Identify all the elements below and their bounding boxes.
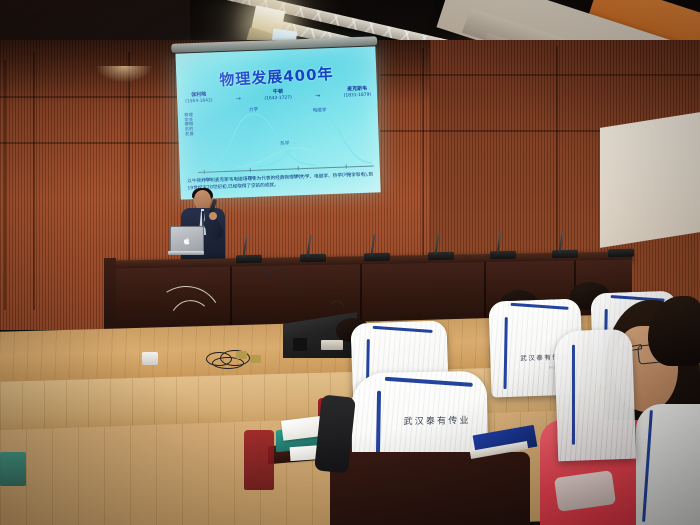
macbook-laptop[interactable] bbox=[168, 226, 204, 256]
wall-panel-seam bbox=[0, 96, 180, 98]
wall-panel-seam bbox=[0, 142, 180, 144]
chart-x-tick bbox=[250, 168, 251, 172]
table-seam bbox=[360, 264, 362, 326]
seat-teal bbox=[0, 452, 26, 486]
cable-plug bbox=[236, 351, 247, 359]
curve-label-thermodynamics: 热学 bbox=[280, 141, 289, 147]
scientist-entry: 牛顿 (1642-1727) bbox=[264, 89, 292, 101]
scientist-dates: (1831-1879) bbox=[344, 92, 372, 98]
laptop-lid bbox=[170, 226, 204, 253]
chair-cover-piping bbox=[504, 317, 508, 389]
seat-red bbox=[244, 430, 274, 490]
chart-x-tick bbox=[346, 165, 347, 169]
chart-y-axis-label: 物理学关键概念的发展 bbox=[184, 113, 195, 137]
power-adapter bbox=[142, 352, 158, 365]
desk-microphone[interactable] bbox=[428, 252, 454, 260]
arrow-icon: → bbox=[315, 88, 320, 99]
scientist-dates: (1564-1642) bbox=[185, 98, 213, 104]
apple-logo bbox=[184, 237, 191, 245]
scientist-dates: (1642-1727) bbox=[264, 95, 292, 101]
cable-plug bbox=[250, 355, 261, 363]
chart-curves bbox=[196, 105, 374, 173]
presenter-hand bbox=[209, 212, 217, 220]
wall-panel-seam bbox=[33, 52, 35, 310]
chair-cover-piping bbox=[385, 377, 473, 387]
wall-light-glow bbox=[96, 66, 152, 82]
chair-cover-text: 武汉泰有传业 bbox=[403, 413, 470, 427]
slide-chart: 物理学关键概念的发展 力学 电磁学 热学 1600 1700 1800 1900 bbox=[196, 105, 374, 173]
cable-pile bbox=[206, 350, 268, 368]
chair-cover-piping bbox=[572, 345, 575, 445]
curve-label-mechanics: 力学 bbox=[249, 107, 258, 113]
desk-microphone[interactable] bbox=[552, 250, 578, 258]
desk-microphone[interactable] bbox=[490, 251, 516, 259]
arrow-icon: → bbox=[236, 91, 241, 102]
desk-microphone[interactable] bbox=[236, 255, 262, 263]
wall-panel-seam bbox=[380, 74, 700, 76]
chair-cover-piping bbox=[373, 326, 433, 333]
table-seam bbox=[484, 262, 486, 324]
projected-slide: 物理发展400年 伽利略 (1564-1642) → 牛顿 (1642-1727… bbox=[175, 46, 380, 199]
laptop-base bbox=[168, 251, 204, 255]
projection-screen: 物理发展400年 伽利略 (1564-1642) → 牛顿 (1642-1727… bbox=[175, 41, 380, 200]
right-wall-light-panel bbox=[600, 112, 700, 248]
desk-microphone[interactable] bbox=[300, 254, 326, 262]
desk-microphone[interactable] bbox=[364, 253, 390, 261]
curve-label-electromagnetism: 电磁学 bbox=[313, 107, 327, 114]
presenter-head bbox=[194, 190, 211, 210]
scientist-entry: 伽利略 (1564-1642) bbox=[185, 92, 213, 104]
scientist-entry: 麦克斯韦 (1831-1879) bbox=[343, 87, 371, 99]
student-lower-body bbox=[330, 452, 530, 525]
chart-x-tick bbox=[298, 166, 299, 170]
chair-cover-left-edge bbox=[554, 329, 636, 462]
lecture-hall-photo: 物理发展400年 伽利略 (1564-1642) → 牛顿 (1642-1727… bbox=[0, 0, 700, 525]
chart-x-tick bbox=[204, 170, 205, 174]
chair-cover-piping bbox=[511, 303, 569, 310]
desk-microphone[interactable] bbox=[608, 249, 634, 257]
presider-table-end bbox=[104, 258, 116, 330]
